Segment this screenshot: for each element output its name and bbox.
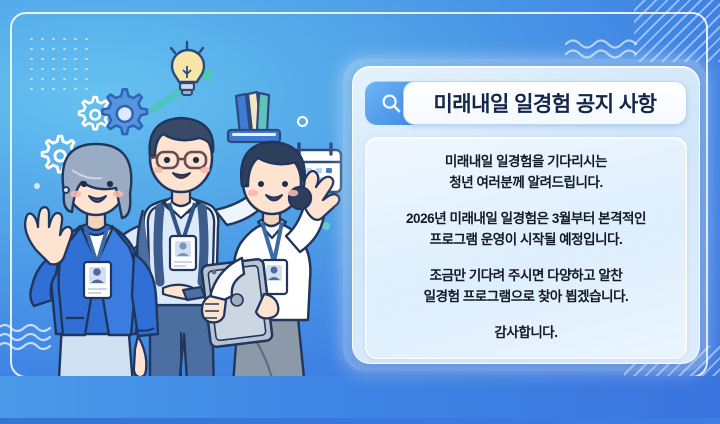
notice-line: 조금만 기다려 주시면 다양하고 알찬 [424,266,629,287]
lightbulb-icon [171,42,204,95]
notice-paragraph-thanks: 감사합니다. [494,323,557,344]
bottom-edge-line [0,418,720,424]
notice-line: 일경험 프로그램으로 찾아 뵙겠습니다. [424,287,629,308]
books-icon [228,92,280,142]
bottom-gradient-band [0,376,720,424]
notice-paragraph-schedule: 2026년 미래내일 일경험은 3월부터 본격적인 프로그램 운영이 시작될 예… [406,209,646,251]
notice-line: 청년 여러분께 알려드립니다. [445,173,607,194]
notice-line: 감사합니다. [494,323,557,344]
notice-line: 프로그램 운영이 시작될 예정입니다. [406,230,646,251]
person-woman-blue-blazer [25,144,158,398]
diagonal-stripes-top-right [634,0,720,62]
notice-line: 미래내일 일경험을 기다리시는 [445,152,607,173]
notice-body-panel: 미래내일 일경험을 기다리시는 청년 여러분께 알려드립니다. 2026년 미래… [365,137,687,359]
three-young-professionals-illustration [0,0,360,424]
notice-paragraph-intro: 미래내일 일경험을 기다리시는 청년 여러분께 알려드립니다. [445,152,607,194]
notice-title-row: 미래내일 일경험 공지 사항 [365,81,687,125]
person-woman-with-tablet [201,142,339,398]
notice-title-pill: 미래내일 일경험 공지 사항 [403,81,687,125]
notice-title: 미래내일 일경험 공지 사항 [433,88,656,118]
notice-card: 미래내일 일경험 공지 사항 미래내일 일경험을 기다리시는 청년 여러분께 알… [352,66,700,364]
poster-canvas: 미래내일 일경험 공지 사항 미래내일 일경험을 기다리시는 청년 여러분께 알… [0,0,720,424]
search-icon [380,92,402,114]
notice-line: 2026년 미래내일 일경험은 3월부터 본격적인 [406,209,646,230]
gear-icon-large [102,89,147,134]
notice-paragraph-closing: 조금만 기다려 주시면 다양하고 알찬 일경험 프로그램으로 찾아 뵙겠습니다. [424,266,629,308]
